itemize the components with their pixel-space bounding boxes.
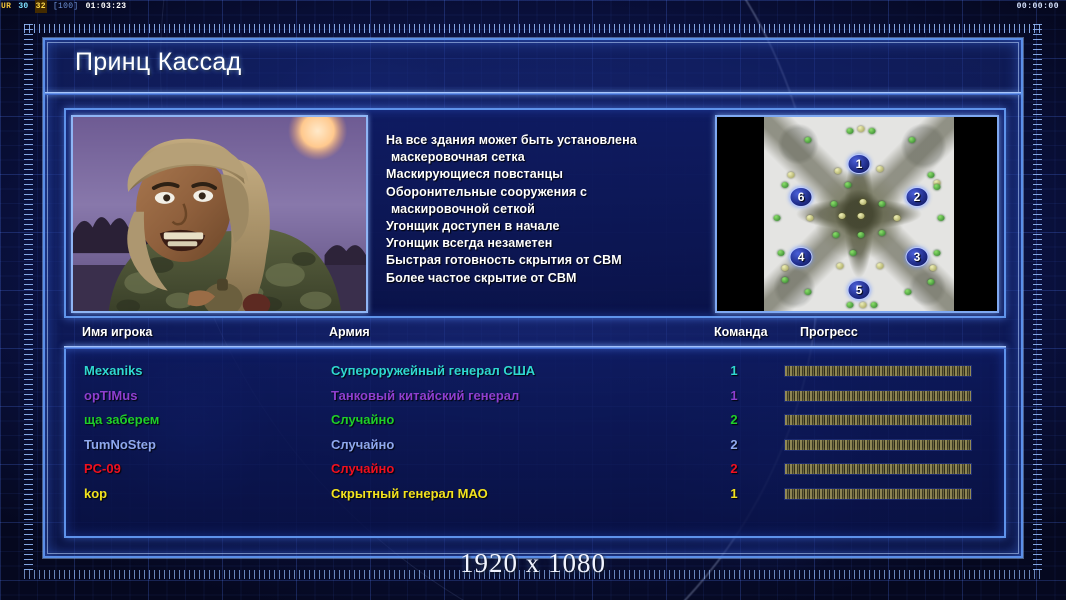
player-progress-bar	[784, 414, 972, 426]
general-info-panel: На все здания может быть установлена мас…	[64, 108, 1006, 318]
table-row: opTIMusТанковый китайский генерал1	[66, 386, 1004, 410]
status-bar: UR 30 32 [100] 01:03:23 00:00:00	[0, 0, 1066, 13]
tick-strip-right	[1033, 24, 1042, 572]
minimap-resource-dot	[933, 184, 940, 190]
prince-kassad-portrait	[73, 117, 366, 312]
desc-line: Угонщик доступен в начале	[386, 218, 676, 235]
minimap-resource-dot	[857, 126, 864, 132]
loading-screen-panel: Принц Кассад	[43, 38, 1023, 558]
minimap-resource-dot	[781, 277, 788, 283]
player-army: Скрытный генерал МАО	[331, 486, 488, 501]
minimap-resource-dot	[857, 213, 864, 219]
desc-line: Более частое скрытие от СВМ	[386, 270, 676, 287]
general-description: На все здания может быть установлена мас…	[386, 132, 676, 287]
status-clock-right: 00:00:00	[1017, 0, 1059, 13]
minimap-start-position-3[interactable]: 3	[905, 247, 928, 267]
general-portrait-frame	[71, 115, 368, 313]
minimap-resource-dot	[846, 128, 853, 134]
minimap-resource-dot	[928, 172, 935, 178]
minimap-resource-dot	[804, 137, 811, 143]
minimap-resource-dot	[894, 215, 901, 221]
minimap-resource-dot	[781, 182, 788, 188]
player-army: Случайно	[331, 412, 394, 427]
tick-strip-left	[24, 24, 33, 572]
page-title: Принц Кассад	[75, 48, 241, 77]
minimap-resource-dot	[905, 289, 912, 295]
player-name: kop	[84, 486, 107, 501]
minimap-resource-dot	[876, 166, 883, 172]
player-army: Супероружейный генерал США	[331, 363, 535, 378]
player-army: Случайно	[331, 437, 394, 452]
minimap-resource-dot	[859, 302, 866, 308]
player-name: opTIMus	[84, 388, 137, 403]
status-value-1: 30	[17, 0, 29, 13]
player-progress-bar	[784, 439, 972, 451]
player-progress-fill	[785, 415, 971, 425]
minimap-frame: 123456	[715, 115, 999, 313]
column-header-team: Команда	[714, 325, 768, 339]
status-timer: 01:03:23	[85, 0, 128, 13]
minimap-resource-dot	[804, 289, 811, 295]
minimap-resource-dot	[933, 250, 940, 256]
status-bracket: [100]	[52, 0, 80, 13]
table-row: kopСкрытный генерал МАО1	[66, 484, 1004, 508]
desc-line: Маскирующиеся повстанцы	[386, 166, 676, 183]
minimap-resource-dot	[806, 215, 813, 221]
minimap-resource-dot	[781, 265, 788, 271]
player-progress-bar	[784, 463, 972, 475]
minimap-resource-dot	[909, 137, 916, 143]
player-progress-fill	[785, 391, 971, 401]
minimap-resource-dot	[846, 302, 853, 308]
minimap-resource-dot	[930, 265, 937, 271]
player-army: Танковый китайский генерал	[331, 388, 519, 403]
resolution-label: 1920 x 1080	[0, 548, 1066, 579]
status-value-2: 32	[35, 0, 47, 13]
table-row: ща заберемСлучайно2	[66, 410, 1004, 434]
column-header-player-name: Имя игрока	[82, 325, 152, 339]
desc-line: Угонщик всегда незаметен	[386, 235, 676, 252]
minimap-resource-dot	[774, 215, 781, 221]
player-team: 1	[724, 363, 744, 378]
minimap-resource-dot	[878, 201, 885, 207]
player-team: 2	[724, 461, 744, 476]
player-name: Mexaniks	[84, 363, 143, 378]
title-bar: Принц Кассад	[45, 40, 1021, 94]
desc-line: Быстрая готовность скрытия от СВМ	[386, 252, 676, 269]
minimap-resource-dot	[869, 128, 876, 134]
player-progress-bar	[784, 488, 972, 500]
table-row: PC-09Случайно2	[66, 459, 1004, 483]
minimap-resource-dot	[833, 232, 840, 238]
minimap-resource-dot	[787, 172, 794, 178]
minimap-resource-dot	[778, 250, 785, 256]
minimap-resource-dot	[850, 250, 857, 256]
minimap-resource-dot	[876, 263, 883, 269]
desc-line: На все здания может быть установлена	[386, 132, 676, 149]
player-table-body: MexaniksСупероружейный генерал США1opTIM…	[64, 349, 1006, 538]
title-divider	[45, 92, 1021, 95]
player-progress-bar	[784, 365, 972, 377]
tick-strip-top	[24, 24, 1042, 33]
desc-line: маскеровочная сетка	[386, 149, 676, 166]
player-progress-fill	[785, 489, 971, 499]
player-name: TumNoStep	[84, 437, 156, 452]
minimap-resource-dot	[857, 232, 864, 238]
minimap-resource-dot	[871, 302, 878, 308]
minimap-resource-dot	[838, 213, 845, 219]
minimap-resource-dot	[835, 168, 842, 174]
player-progress-fill	[785, 440, 971, 450]
player-team: 1	[724, 388, 744, 403]
desc-line: маскировочной сеткой	[386, 201, 676, 218]
minimap-start-position-4[interactable]: 4	[790, 247, 813, 267]
column-header-army: Армия	[329, 325, 370, 339]
player-team: 2	[724, 412, 744, 427]
minimap-start-position-5[interactable]: 5	[848, 280, 871, 300]
minimap-resource-dot	[878, 230, 885, 236]
status-tag: UR	[0, 0, 12, 13]
player-progress-fill	[785, 464, 971, 474]
minimap-resource-dot	[937, 215, 944, 221]
table-row: TumNoStepСлучайно2	[66, 435, 1004, 459]
minimap-resource-dot	[844, 182, 851, 188]
player-army: Случайно	[331, 461, 394, 476]
minimap-start-position-6[interactable]: 6	[790, 187, 813, 207]
player-name: PC-09	[84, 461, 121, 476]
desc-line: Оборонительные сооружения с	[386, 184, 676, 201]
minimap-resource-dot	[837, 263, 844, 269]
minimap-start-position-1[interactable]: 1	[848, 154, 871, 174]
player-table-header: Имя игрока Армия Команда Прогресс	[64, 325, 1006, 345]
minimap-start-position-2[interactable]: 2	[905, 187, 928, 207]
player-progress-fill	[785, 366, 971, 376]
player-progress-bar	[784, 390, 972, 402]
minimap-resource-dot	[831, 201, 838, 207]
minimap-resource-dot	[859, 199, 866, 205]
column-header-progress: Прогресс	[800, 325, 858, 339]
player-name: ща заберем	[84, 412, 159, 427]
player-team: 2	[724, 437, 744, 452]
minimap-resource-dot	[928, 279, 935, 285]
player-team: 1	[724, 486, 744, 501]
minimap-terrain: 123456	[764, 117, 954, 311]
table-row: MexaniksСупероружейный генерал США1	[66, 361, 1004, 385]
